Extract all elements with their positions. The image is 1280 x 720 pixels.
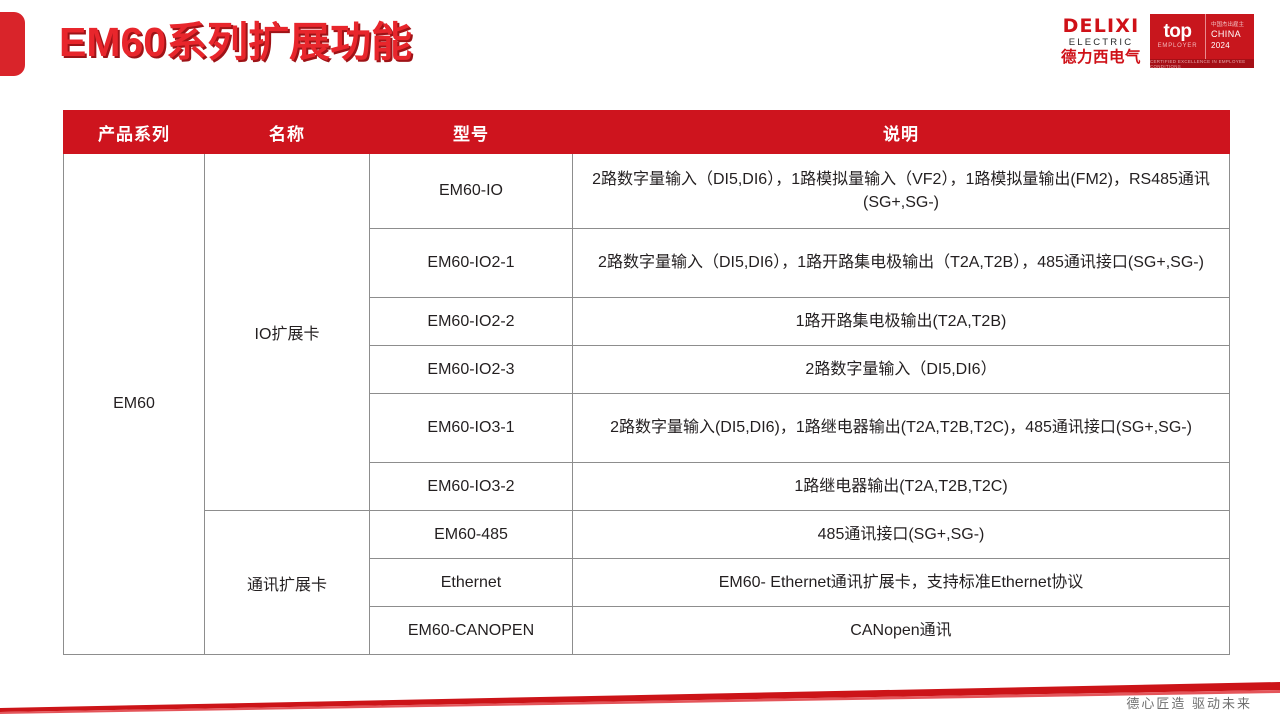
badge-body: top EMPLOYER 中国杰出雇主 CHINA 2024 — [1150, 14, 1254, 59]
cell-group-name-io: IO扩展卡 — [205, 154, 370, 511]
cell-description: 2路数字量输入（DI5,DI6），1路模拟量输入（VF2），1路模拟量输出(FM… — [573, 154, 1230, 229]
badge-right-panel: 中国杰出雇主 CHINA 2024 — [1206, 14, 1254, 59]
top-employer-badge-icon: top EMPLOYER 中国杰出雇主 CHINA 2024 CERTIFIED… — [1150, 14, 1254, 68]
cell-description: 1路继电器输出(T2A,T2B,T2C) — [573, 463, 1230, 511]
cell-group-name-comm: 通讯扩展卡 — [205, 511, 370, 655]
cell-description: 2路数字量输入（DI5,DI6），1路开路集电极输出（T2A,T2B），485通… — [573, 229, 1230, 298]
column-header-name: 名称 — [205, 111, 370, 154]
cell-description: 2路数字量输入（DI5,DI6） — [573, 346, 1230, 394]
footer-accent-line — [0, 660, 1280, 720]
cell-model: EM60-IO2-1 — [370, 229, 573, 298]
badge-top-word: top — [1163, 23, 1191, 41]
cell-model: EM60-IO3-1 — [370, 394, 573, 463]
column-header-model: 型号 — [370, 111, 573, 154]
badge-country: CHINA — [1211, 29, 1254, 40]
delixi-logo: DELIXI ELECTRIC 德力西电气 — [1061, 17, 1141, 66]
delixi-electric-label: ELECTRIC — [1069, 38, 1134, 48]
cell-product-series: EM60 — [64, 154, 205, 655]
table-header-row: 产品系列 名称 型号 说明 — [64, 111, 1230, 154]
cell-model: EM60-IO — [370, 154, 573, 229]
cell-model: EM60-IO3-2 — [370, 463, 573, 511]
cell-model: EM60-IO2-3 — [370, 346, 573, 394]
table-row: EM60 IO扩展卡 EM60-IO 2路数字量输入（DI5,DI6），1路模拟… — [64, 154, 1230, 229]
page-title: EM60系列扩展功能 — [59, 17, 412, 67]
badge-employer-label: EMPLOYER — [1158, 43, 1198, 49]
cell-description: 485通讯接口(SG+,SG-) — [573, 511, 1230, 559]
cell-description: 2路数字量输入(DI5,DI6)，1路继电器输出(T2A,T2B,T2C)，48… — [573, 394, 1230, 463]
badge-left-panel: top EMPLOYER — [1150, 14, 1206, 59]
column-header-description: 说明 — [573, 111, 1230, 154]
cell-model: EM60-485 — [370, 511, 573, 559]
expansion-spec-table: 产品系列 名称 型号 说明 EM60 IO扩展卡 EM60-IO 2路数字量输入… — [63, 110, 1230, 655]
table-row: 通讯扩展卡 EM60-485 485通讯接口(SG+,SG-) — [64, 511, 1230, 559]
brand-logo-block: DELIXI ELECTRIC 德力西电气 top EMPLOYER 中国杰出雇… — [1061, 14, 1254, 68]
cell-description: EM60- Ethernet通讯扩展卡，支持标准Ethernet协议 — [573, 559, 1230, 607]
footer-tagline: 德心匠造 驱动未来 — [1126, 693, 1252, 712]
column-header-series: 产品系列 — [64, 111, 205, 154]
badge-cn-line: 中国杰出雇主 — [1211, 22, 1254, 29]
cell-model: Ethernet — [370, 559, 573, 607]
delixi-wordmark: DELIXI — [1063, 17, 1140, 36]
cell-description: 1路开路集电极输出(T2A,T2B) — [573, 298, 1230, 346]
badge-certification-strip: CERTIFIED EXCELLENCE IN EMPLOYEE CONDITI… — [1150, 59, 1254, 68]
delixi-chinese-name: 德力西电气 — [1061, 50, 1141, 66]
cell-description: CANopen通讯 — [573, 607, 1230, 655]
cell-model: EM60-IO2-2 — [370, 298, 573, 346]
badge-year: 2024 — [1211, 41, 1254, 51]
title-accent-bar — [0, 12, 25, 76]
cell-model: EM60-CANOPEN — [370, 607, 573, 655]
